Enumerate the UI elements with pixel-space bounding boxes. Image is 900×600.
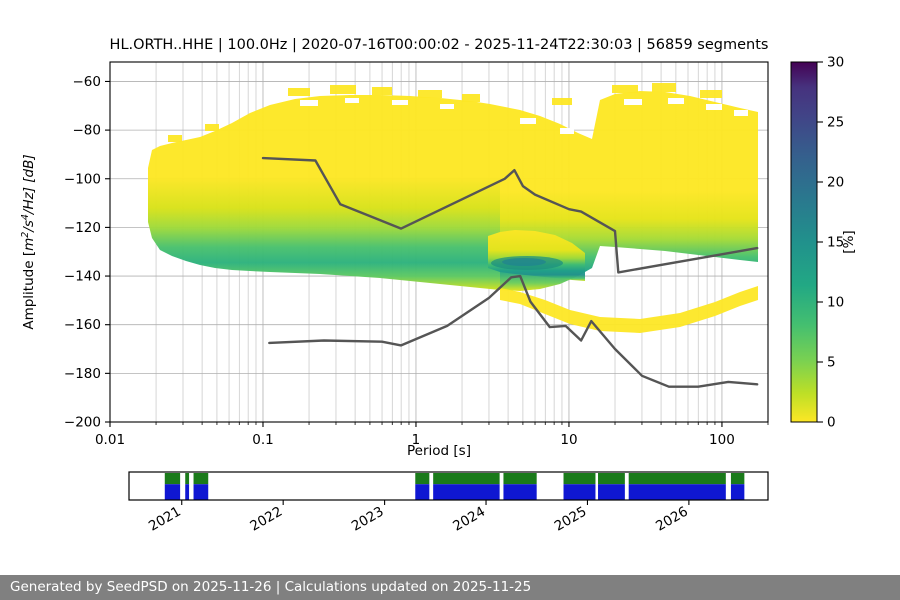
psd-figure: HL.ORTH..HHE | 100.0Hz | 2020-07-16T00:0… (0, 0, 900, 600)
timeline-tick-label: 2025 (552, 504, 590, 535)
colorbar-gradient (791, 62, 817, 422)
timeline-segment-blue[interactable] (731, 484, 744, 500)
timeline-segment-green[interactable] (731, 473, 744, 484)
y-tick-label: −180 (64, 366, 101, 382)
x-tick-label: 10 (560, 432, 577, 448)
timeline-segment-blue[interactable] (598, 484, 625, 500)
timeline-tick-label: 2021 (146, 504, 184, 535)
timeline-segment-green[interactable] (433, 473, 499, 484)
y-tick-label: −80 (73, 123, 102, 139)
timeline-segment-blue[interactable] (433, 484, 499, 500)
timeline-segment-green[interactable] (629, 473, 726, 484)
colorbar-tick-label: 10 (827, 295, 844, 311)
y-tick-label: −200 (64, 415, 101, 431)
timeline-segment-green[interactable] (415, 473, 429, 484)
y-axis-label: Amplitude [m2/s4/Hz] [dB] (20, 154, 38, 329)
timeline-segment-blue[interactable] (629, 484, 726, 500)
timeline-ticks (182, 500, 689, 505)
colorbar-tick-label: 0 (827, 415, 836, 431)
colorbar-tick-label: 30 (827, 55, 844, 71)
timeline-segment-green[interactable] (185, 473, 189, 484)
psd-peak-concentration-inner (502, 258, 546, 266)
y-tick-label: −120 (64, 220, 101, 236)
y-tick-label: −140 (64, 269, 101, 285)
psd-plot-area: 0.010.1110100−200−180−160−140−120−100−80… (20, 62, 769, 459)
y-tick-label: −100 (64, 171, 101, 187)
y-tick-label: −160 (64, 317, 101, 333)
y-tick-label: −60 (73, 74, 102, 90)
timeline-segment-blue[interactable] (194, 484, 209, 500)
colorbar-tick-label: 5 (827, 355, 836, 371)
x-tick-label: 0.01 (95, 432, 125, 448)
timeline-segment-blue[interactable] (415, 484, 429, 500)
timeline-tick-label: 2024 (450, 504, 488, 535)
x-axis-label: Period [s] (407, 443, 471, 459)
colorbar-label: [%] (841, 230, 857, 253)
timeline-tick-label: 2026 (653, 504, 691, 535)
timeline-segment-green[interactable] (598, 473, 625, 484)
colorbar-tick-label: 20 (827, 175, 844, 191)
timeline-segment-blue[interactable] (185, 484, 189, 500)
page-title: HL.ORTH..HHE | 100.0Hz | 2020-07-16T00:0… (110, 37, 769, 53)
timeline-tick-labels: 202120222023202420252026 (146, 504, 691, 535)
timeline-segment-green[interactable] (194, 473, 209, 484)
timeline-tick-label: 2023 (349, 504, 387, 535)
timeline-segment-blue[interactable] (165, 484, 180, 500)
timeline-segment-blue[interactable] (564, 484, 596, 500)
x-tick-label: 100 (709, 432, 735, 448)
coverage-timeline[interactable]: 202120222023202420252026 (129, 472, 768, 535)
timeline-segment-blue[interactable] (503, 484, 536, 500)
colorbar: 051015202530 [%] (791, 55, 857, 431)
colorbar-tick-label: 25 (827, 115, 844, 131)
timeline-tick-label: 2022 (247, 504, 285, 535)
timeline-segment-green[interactable] (165, 473, 180, 484)
timeline-segment-green[interactable] (503, 473, 536, 484)
timeline-segment-green[interactable] (564, 473, 596, 484)
x-tick-label: 0.1 (252, 432, 273, 448)
footer-bar: Generated by SeedPSD on 2025-11-26 | Cal… (0, 575, 900, 600)
